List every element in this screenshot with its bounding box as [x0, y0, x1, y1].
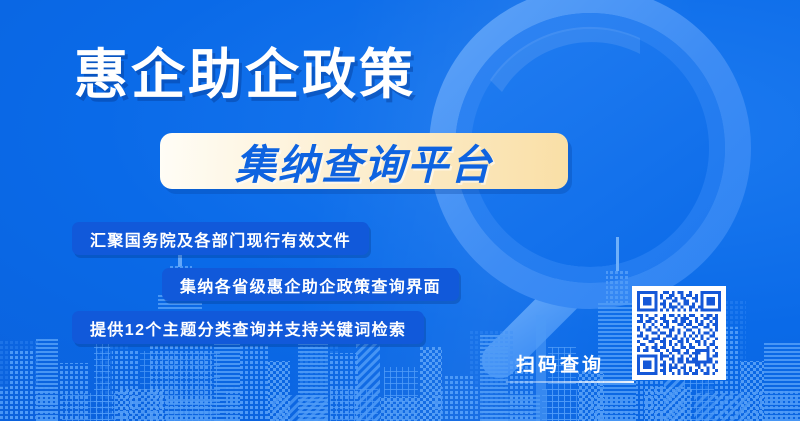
subtitle-text: 集纳查询平台 — [160, 133, 568, 189]
scan-label: 扫码查询 — [516, 350, 604, 377]
qr-code[interactable] — [632, 286, 726, 380]
feature-pill-3: 提供12个主题分类查询并支持关键词检索 — [72, 311, 424, 344]
feature-pill-1: 汇聚国务院及各部门现行有效文件 — [72, 222, 369, 255]
page-title: 惠企助企政策 — [74, 48, 416, 102]
feature-pill-2: 集纳各省级惠企助企政策查询界面 — [162, 268, 459, 301]
policy-banner: 惠企助企政策 集纳查询平台 汇聚国务院及各部门现行有效文件 集纳各省级惠企助企政… — [0, 0, 800, 421]
subtitle-plate: 集纳查询平台 — [160, 133, 568, 189]
scan-underline — [506, 381, 634, 383]
